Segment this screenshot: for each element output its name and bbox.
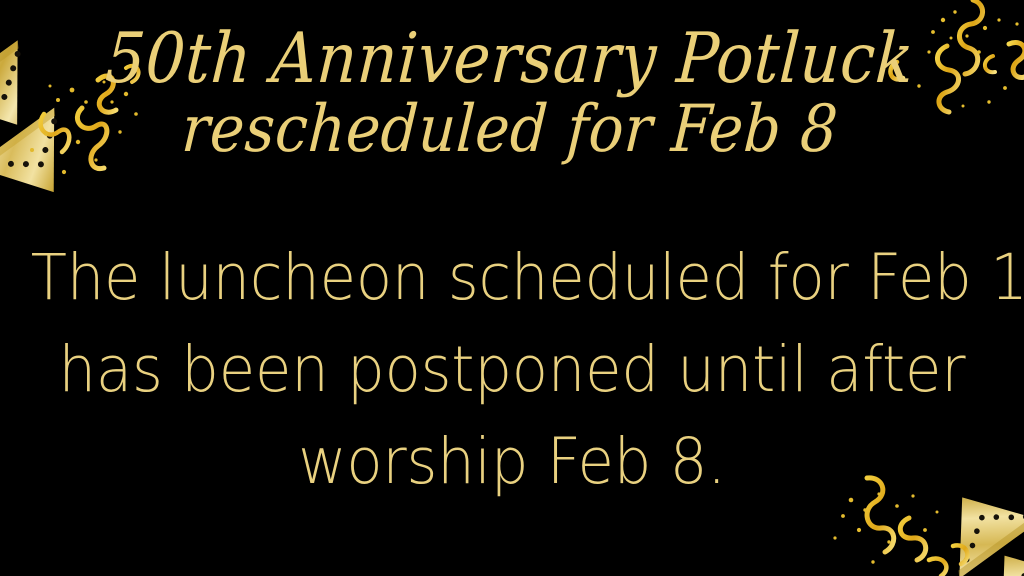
bunting-pennant [964, 526, 1024, 576]
body-line-3: worship Feb 8. [31, 416, 994, 508]
title-line-2: rescheduled for Feb 8 [0, 96, 1024, 161]
body-message: The luncheon scheduled for Feb 1 has bee… [0, 232, 1024, 508]
body-line-2: has been postponed until after [31, 324, 994, 416]
announcement-slide: 50th Anniversary Potluck rescheduled for… [0, 0, 1024, 576]
title-line-1: 50th Anniversary Potluck [0, 24, 1024, 93]
body-line-1: The luncheon scheduled for Feb 1 [31, 232, 994, 324]
title-block: 50th Anniversary Potluck rescheduled for… [0, 24, 1024, 154]
